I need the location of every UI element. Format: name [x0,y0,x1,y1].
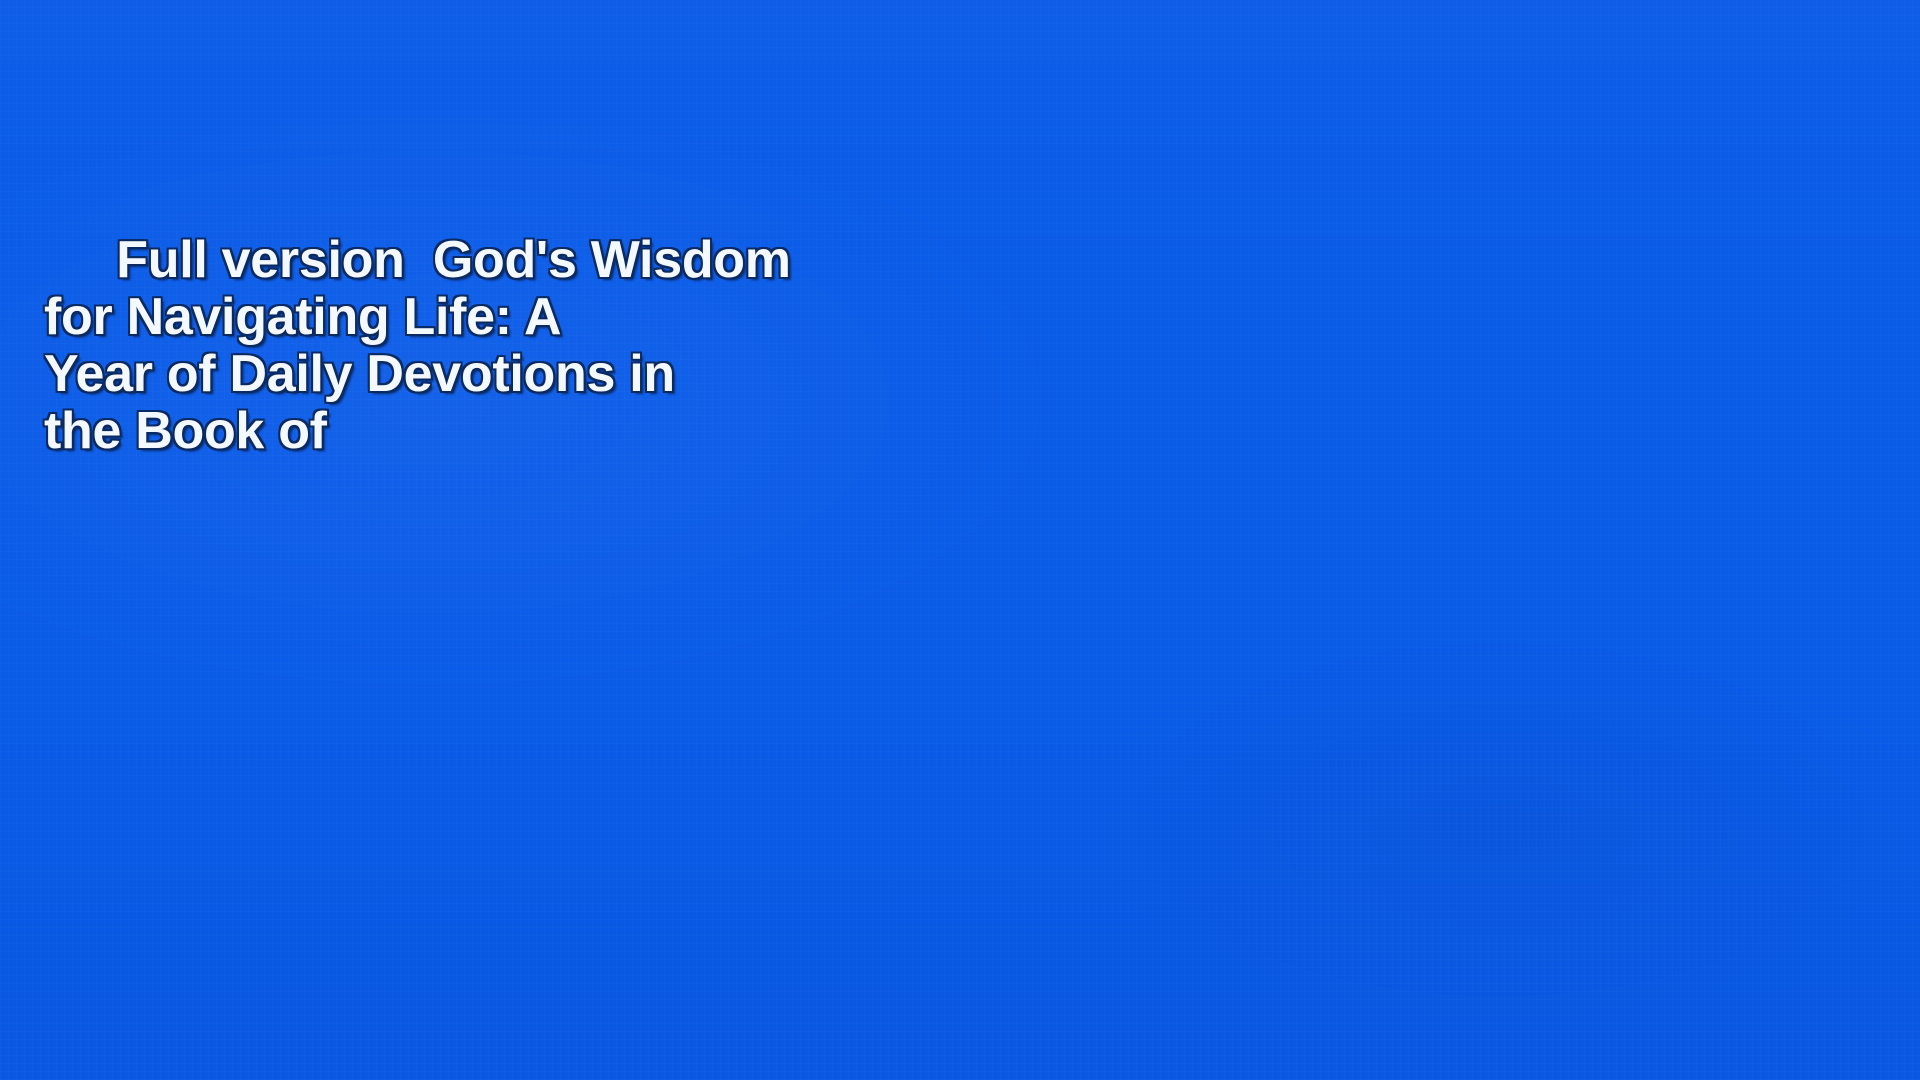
title-line-1: Full version God's Wisdom [44,232,1104,289]
title-line-4: the Book of [44,403,1104,460]
title-line-2: for Navigating Life: A [44,289,1104,346]
promo-slide: Full version God's Wisdom for Navigating… [0,0,1920,1080]
page-title: Full version God's Wisdom for Navigating… [44,232,1104,460]
title-line-3: Year of Daily Devotions in [44,346,1104,403]
